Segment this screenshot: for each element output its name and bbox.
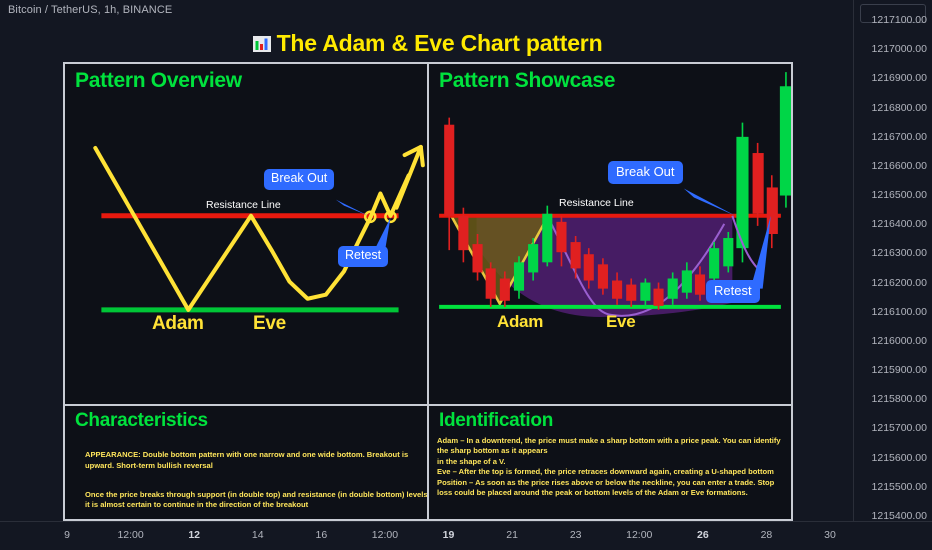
identification-body: Adam – In a downtrend, the price must ma… [437,436,783,499]
price-tick: 1216000.00 [872,335,927,347]
price-tick: 1215600.00 [872,452,927,464]
time-tick: 12:00 [626,529,652,541]
price-tick: 1215900.00 [872,364,927,376]
panel-identification-heading: Identification [439,410,553,432]
showcase-adam-label: Adam [497,312,543,332]
time-axis[interactable]: 912:0012141612:0019212312:00262830 [0,521,932,550]
price-tick: 1216600.00 [872,160,927,172]
price-tick: 1216700.00 [872,131,927,143]
time-tick: 16 [315,529,327,541]
time-tick: 14 [252,529,264,541]
page-title-text: The Adam & Eve Chart pattern [277,30,603,56]
panel-characteristics: Characteristics APPEARANCE: Double botto… [63,404,441,521]
time-tick: 12:00 [117,529,143,541]
panel-pattern-overview: Pattern Overview Resistance Line Break O… [63,62,441,408]
symbol-ticker[interactable]: Bitcoin / TetherUS, 1h, BINANCE [8,4,172,16]
overview-eve-label: Eve [253,313,286,335]
showcase-retest-callout[interactable]: Retest [706,280,760,303]
price-tick: 1215500.00 [872,481,927,493]
overview-resistance-label: Resistance Line [206,199,281,211]
time-tick: 30 [824,529,836,541]
bar-chart-emoji [252,33,272,60]
overview-breakout-callout[interactable]: Break Out [264,169,334,190]
price-tick: 1216400.00 [872,218,927,230]
price-tick: 1216300.00 [872,247,927,259]
time-tick: 19 [443,529,455,541]
time-tick: 23 [570,529,582,541]
price-tick: 1216900.00 [872,72,927,84]
panel-pattern-showcase: Pattern Showcase [427,62,793,408]
characteristics-para-2: Once the price breaks through support (i… [85,490,431,511]
time-tick: 12 [188,529,200,541]
time-tick: 21 [506,529,518,541]
chart-root: Bitcoin / TetherUS, 1h, BINANCE The Adam… [0,0,932,550]
overview-adam-label: Adam [152,313,204,335]
panel-characteristics-heading: Characteristics [75,410,208,432]
price-tick: 1217000.00 [872,43,927,55]
showcase-breakout-callout[interactable]: Break Out [608,161,683,184]
characteristics-para-1: APPEARANCE: Double bottom pattern with o… [85,450,431,471]
time-tick: 12:00 [372,529,398,541]
price-axis[interactable]: 1217100.001217000.001216900.001216800.00… [853,0,932,522]
price-tick: 1216500.00 [872,189,927,201]
page-title: The Adam & Eve Chart pattern [0,30,854,60]
price-tick: 1216200.00 [872,277,927,289]
characteristics-body: APPEARANCE: Double bottom pattern with o… [85,440,431,529]
price-tick: 1216100.00 [872,306,927,318]
time-tick: 26 [697,529,709,541]
showcase-eve-label: Eve [606,312,635,332]
retest-callout-tail [751,216,771,289]
showcase-candlestick-chart [429,64,791,406]
price-tick: 1215800.00 [872,393,927,405]
price-tick: 1216800.00 [872,102,927,114]
panel-identification: Identification Adam – In a downtrend, th… [427,404,793,521]
rally-arrow-shaft [397,147,421,208]
breakout-callout-tail [684,188,736,215]
overview-schematic [65,64,439,406]
showcase-resistance-label: Resistance Line [559,197,634,209]
overview-retest-callout[interactable]: Retest [338,246,388,267]
price-tick: 1217100.00 [872,14,927,26]
price-tick: 1215700.00 [872,422,927,434]
time-tick: 9 [64,529,70,541]
time-tick: 28 [761,529,773,541]
